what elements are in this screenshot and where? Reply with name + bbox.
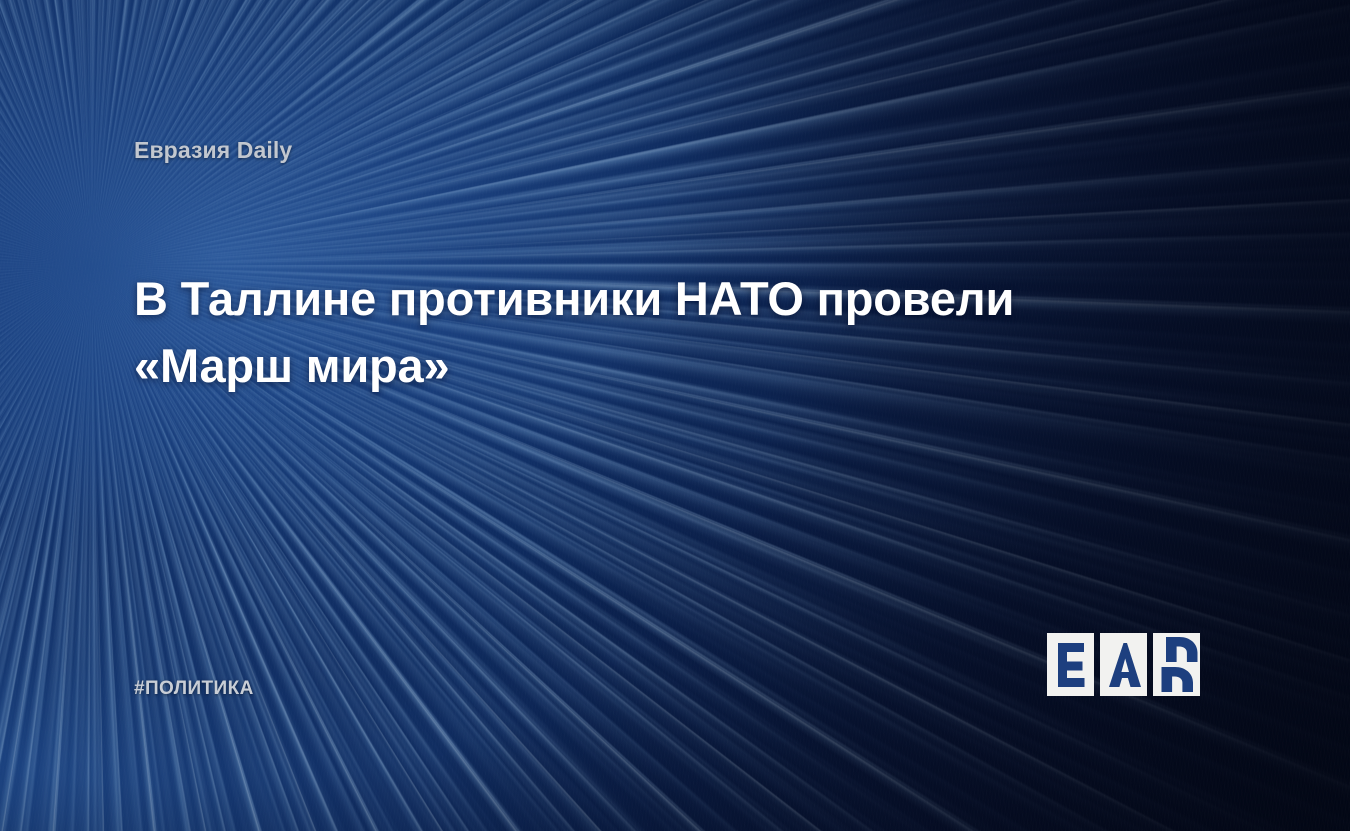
eadaily-logo-mark	[1045, 630, 1227, 700]
card-content: Евразия Daily В Таллине противники НАТО …	[0, 0, 1350, 831]
eadaily-logo[interactable]	[1045, 630, 1227, 700]
headline: В Таллине противники НАТО провели «Марш …	[134, 266, 1174, 399]
brand-title: Евразия Daily	[134, 137, 292, 164]
category-tag[interactable]: #ПОЛИТИКА	[134, 678, 254, 700]
news-card: Евразия Daily В Таллине противники НАТО …	[0, 0, 1350, 831]
logo-letter-e	[1058, 643, 1085, 687]
